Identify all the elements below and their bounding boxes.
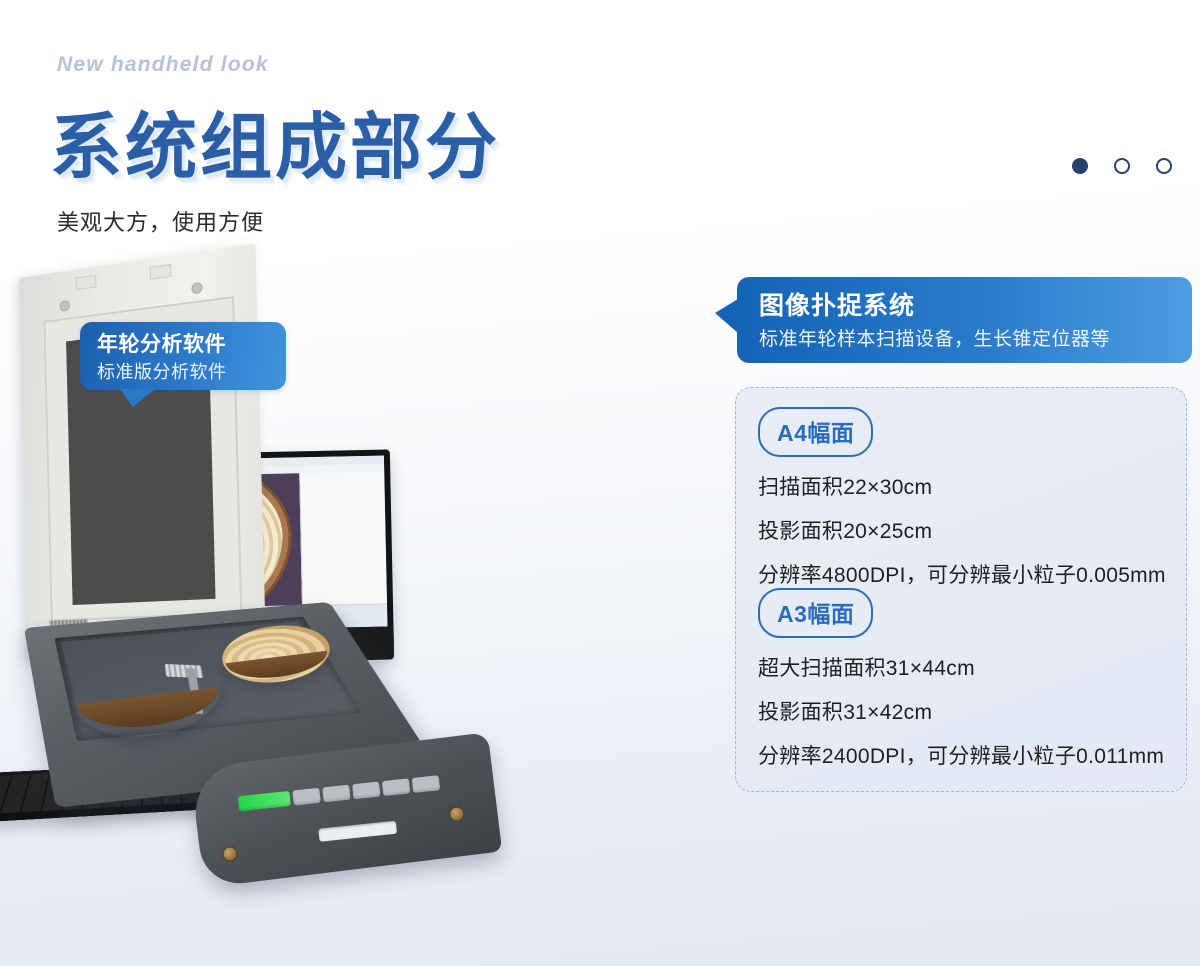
software-callout[interactable]: 年轮分析软件 标准版分析软件 — [80, 322, 286, 390]
page-title: 系统组成部分 — [50, 88, 500, 193]
scanner-bolt-left — [222, 846, 239, 863]
scanner-button-row[interactable] — [238, 775, 440, 811]
spec-line: 扫描面积22×30cm — [758, 471, 1166, 501]
app-right-panel — [299, 472, 387, 607]
pagination-dots[interactable] — [1072, 158, 1172, 174]
spec-line: 分辨率2400DPI，可分辨最小粒子0.011mm — [758, 740, 1164, 770]
banner-tail — [715, 299, 738, 333]
spec-badge-a4: A4幅面 — [758, 407, 873, 457]
pagination-dot-3[interactable] — [1156, 158, 1172, 174]
scanner-status-slot — [318, 821, 397, 842]
page-subtitle: 美观大方，使用方便 — [57, 205, 264, 237]
spec-group-a4: A4幅面 扫描面积22×30cm 投影面积20×25cm 分辨率4800DPI，… — [758, 407, 1166, 589]
callout-tail — [120, 389, 155, 407]
scanner-bolt-right — [448, 806, 465, 823]
spec-group-a3: A3幅面 超大扫描面积31×44cm 投影面积31×42cm 分辨率2400DP… — [758, 588, 1164, 770]
capture-system-title: 图像扑捉系统 — [759, 286, 915, 322]
eyebrow-text: New handheld look — [57, 53, 269, 77]
spec-line: 投影面积31×42cm — [758, 696, 1164, 726]
capture-system-banner[interactable]: 图像扑捉系统 标准年轮样本扫描设备，生长锥定位器等 — [737, 277, 1192, 363]
scanner-button-4[interactable] — [352, 781, 380, 799]
spec-line: 投影面积20×25cm — [758, 515, 1166, 545]
spec-badge-a3: A3幅面 — [758, 588, 873, 638]
pagination-dot-1[interactable] — [1072, 158, 1088, 174]
software-callout-title: 年轮分析软件 — [97, 328, 226, 358]
scanner-button-5[interactable] — [382, 778, 410, 796]
scanner-lid — [19, 244, 266, 662]
scanner-button-2[interactable] — [292, 788, 320, 806]
spec-box: A4幅面 扫描面积22×30cm 投影面积20×25cm 分辨率4800DPI，… — [735, 387, 1187, 792]
slide-canvas: New handheld look 系统组成部分 美观大方，使用方便 — [0, 0, 1200, 966]
spec-line: 分辨率4800DPI，可分辨最小粒子0.005mm — [758, 559, 1166, 589]
pagination-dot-2[interactable] — [1114, 158, 1130, 174]
capture-system-subtitle: 标准年轮样本扫描设备，生长锥定位器等 — [759, 324, 1110, 351]
scanner-button-3[interactable] — [322, 785, 350, 803]
spec-line: 超大扫描面积31×44cm — [758, 652, 1164, 682]
scanner-scan-button[interactable] — [238, 791, 291, 811]
scanner-button-6[interactable] — [412, 775, 440, 793]
software-callout-subtitle: 标准版分析软件 — [97, 358, 227, 384]
